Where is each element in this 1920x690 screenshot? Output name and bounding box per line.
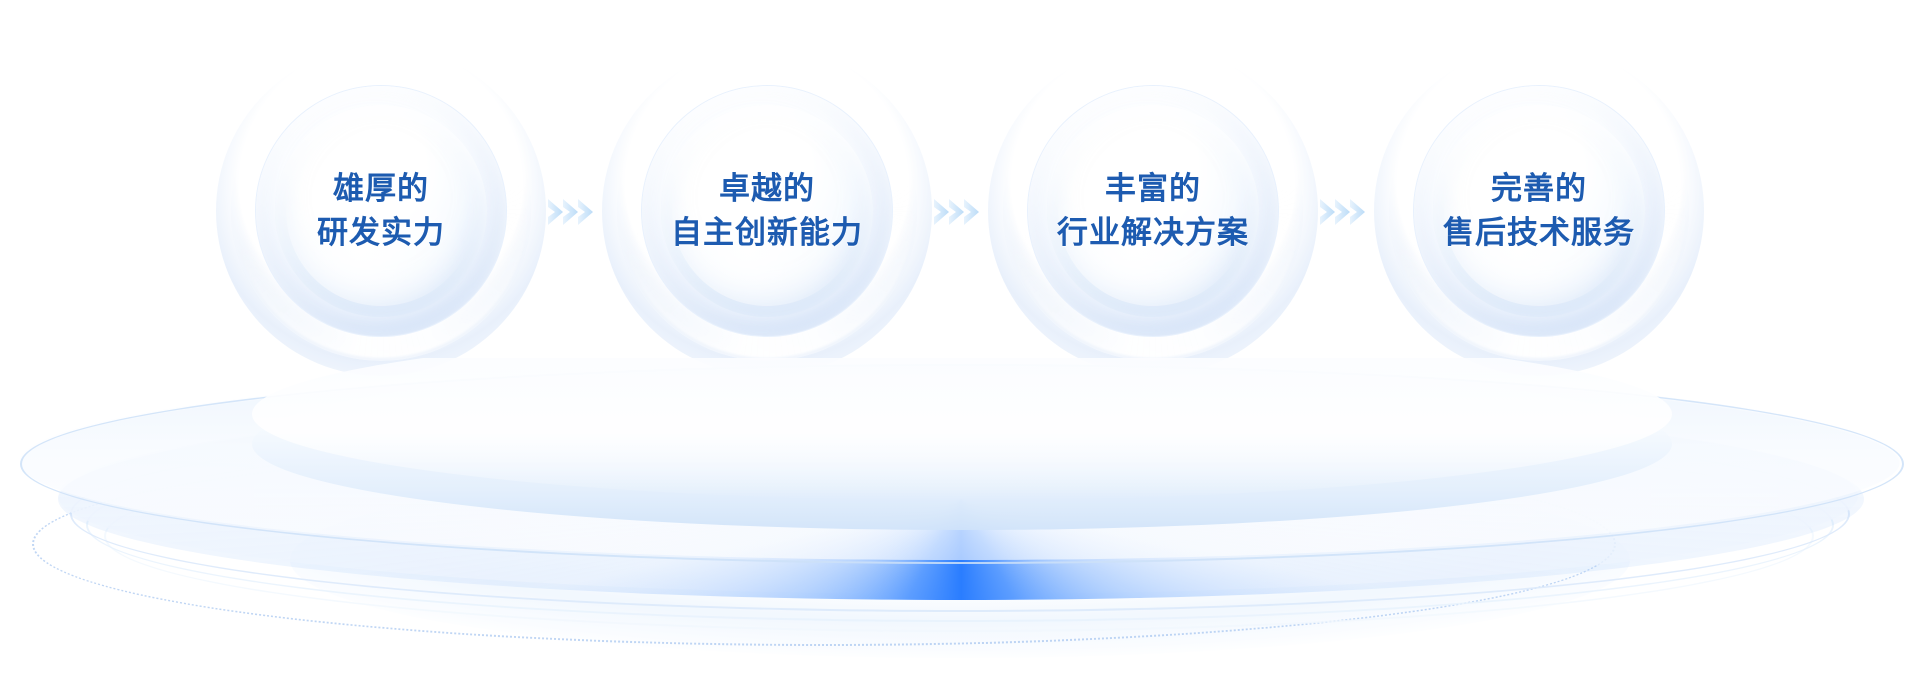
pillar-label: 完善的 售后技术服务 [1443, 167, 1635, 255]
pillar-label-line2: 行业解决方案 [1057, 211, 1249, 255]
elliptical-platform [0, 358, 1920, 690]
pillar-label: 雄厚的 研发实力 [317, 167, 445, 255]
infographic-stage: 雄厚的 研发实力 [0, 0, 1920, 690]
pillar-label-line1: 卓越的 [671, 167, 863, 211]
pillar-orb-industry-solutions[interactable]: 丰富的 行业解决方案 [988, 46, 1318, 376]
pillar-label: 卓越的 自主创新能力 [671, 167, 863, 255]
pillar-orb-innovation-capability[interactable]: 卓越的 自主创新能力 [602, 46, 932, 376]
double-chevron-right-icon [1318, 192, 1374, 232]
pillar-row: 雄厚的 研发实力 [0, 0, 1920, 400]
pillar-label-line2: 研发实力 [317, 211, 445, 255]
pillar-label: 丰富的 行业解决方案 [1057, 167, 1249, 255]
double-chevron-right-icon [932, 192, 988, 232]
pillar-orb-after-sales-service[interactable]: 完善的 售后技术服务 [1374, 46, 1704, 376]
double-chevron-right-icon [546, 192, 602, 232]
pillar-orb-rd-strength[interactable]: 雄厚的 研发实力 [216, 46, 546, 376]
pillar-label-line1: 丰富的 [1057, 167, 1249, 211]
pillar-label-line1: 完善的 [1443, 167, 1635, 211]
pillar-label-line2: 售后技术服务 [1443, 211, 1635, 255]
pillar-label-line2: 自主创新能力 [671, 211, 863, 255]
pillar-label-line1: 雄厚的 [317, 167, 445, 211]
